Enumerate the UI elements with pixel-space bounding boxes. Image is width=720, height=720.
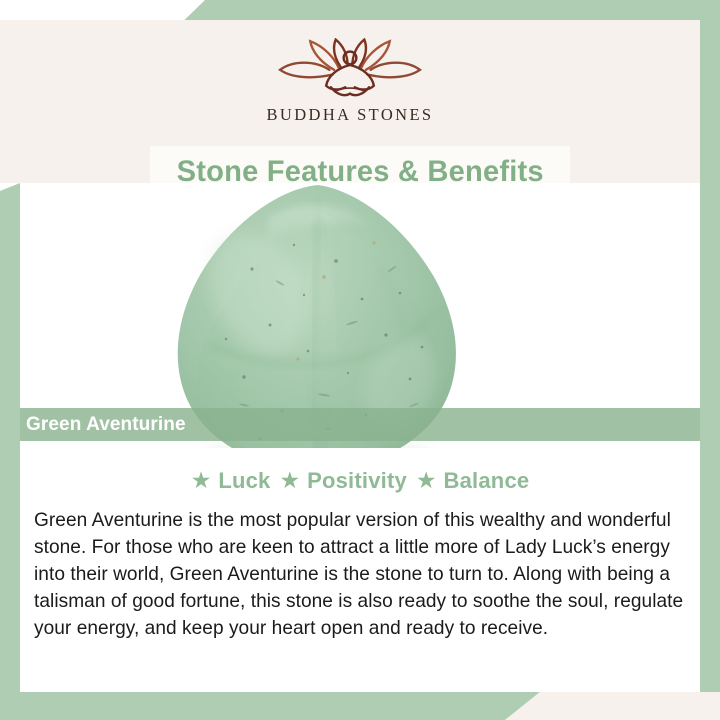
stone-description: Green Aventurine is the most popular ver…: [34, 507, 685, 642]
brand-logo: BUDDHA STONES: [0, 38, 700, 125]
lotus-meditation-icon: [270, 38, 430, 100]
keyword-list: ★ Luck ★ Positivity ★ Balance: [20, 468, 700, 494]
content-panel: ★ Luck ★ Positivity ★ Balance Green Aven…: [20, 448, 700, 692]
keyword-balance: ★ Balance: [416, 468, 529, 494]
star-icon: ★: [191, 469, 212, 492]
keyword-label: Luck: [218, 468, 270, 494]
frame-left-accent: [0, 183, 20, 720]
keyword-positivity: ★ Positivity: [279, 468, 406, 494]
header-section: BUDDHA STONES Stone Features & Benefits: [0, 20, 700, 183]
infographic-page: BUDDHA STONES Stone Features & Benefits: [0, 0, 720, 720]
star-icon: ★: [416, 469, 437, 492]
keyword-label: Balance: [444, 468, 530, 494]
keyword-luck: ★ Luck: [191, 468, 271, 494]
star-icon: ★: [279, 469, 300, 492]
keyword-label: Positivity: [307, 468, 407, 494]
brand-name: BUDDHA STONES: [0, 105, 700, 125]
stone-name-band: Green Aventurine: [20, 408, 700, 441]
stone-name: Green Aventurine: [26, 414, 186, 436]
frame-right-accent: [700, 0, 720, 720]
